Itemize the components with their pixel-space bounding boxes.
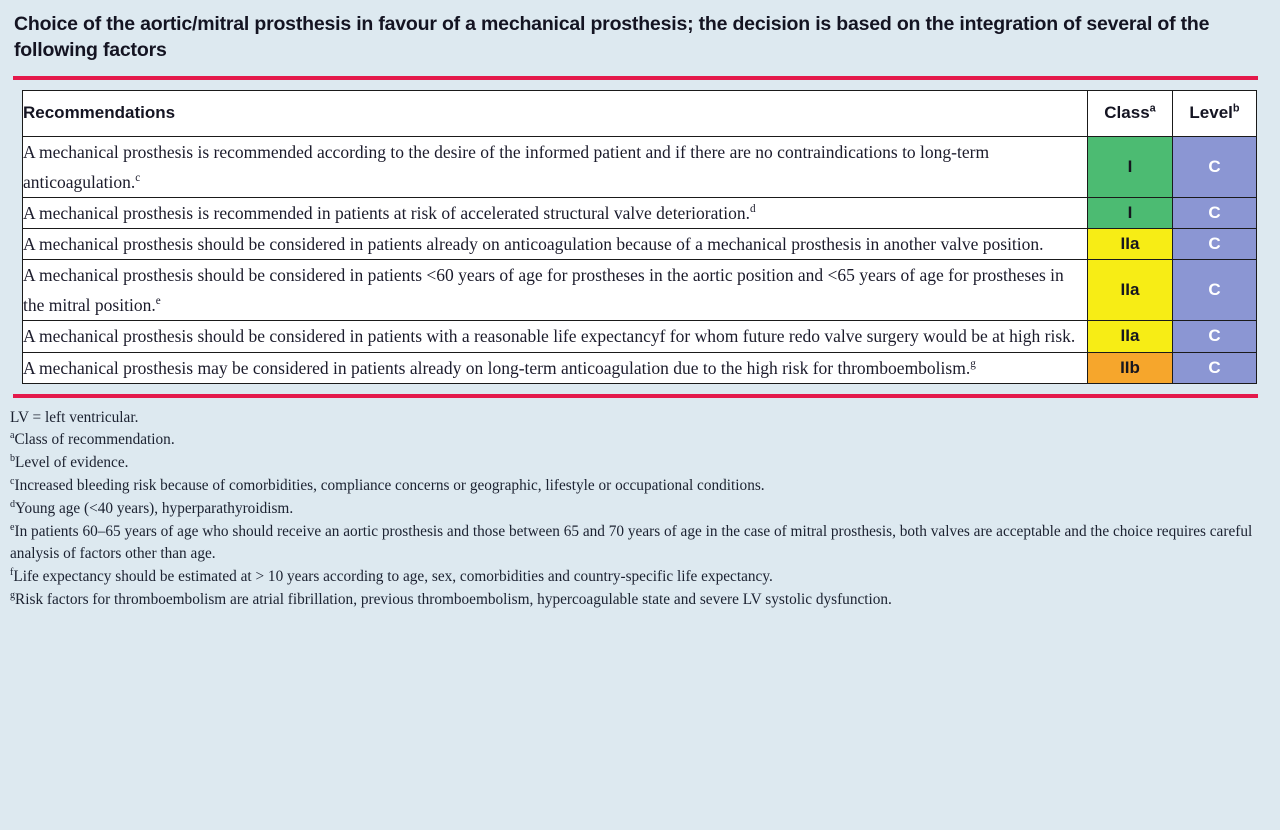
class-cell: IIa bbox=[1088, 260, 1173, 321]
header-recommendations: Recommendations bbox=[23, 90, 1088, 136]
footnote-text: Level of evidence. bbox=[15, 454, 128, 471]
footnote: eIn patients 60–65 years of age who shou… bbox=[10, 521, 1264, 566]
header-level-superscript: b bbox=[1233, 103, 1240, 115]
recommendation-footnote-marker: d bbox=[750, 203, 756, 215]
top-red-rule bbox=[13, 76, 1258, 80]
class-cell: I bbox=[1088, 198, 1173, 229]
guideline-table-page: Choice of the aortic/mitral prosthesis i… bbox=[0, 0, 1280, 830]
header-recommendations-label: Recommendations bbox=[23, 103, 175, 122]
recommendation-cell: A mechanical prosthesis should be consid… bbox=[23, 260, 1088, 321]
title-block: Choice of the aortic/mitral prosthesis i… bbox=[0, 0, 1280, 64]
recommendation-cell: A mechanical prosthesis should be consid… bbox=[23, 229, 1088, 260]
footnote: fLife expectancy should be estimated at … bbox=[10, 566, 1264, 588]
level-cell: C bbox=[1173, 260, 1257, 321]
header-class-superscript: a bbox=[1150, 103, 1156, 115]
footnote: LV = left ventricular. bbox=[10, 407, 1264, 429]
recommendation-footnote-marker: c bbox=[135, 172, 140, 184]
recommendation-text: A mechanical prosthesis may be considere… bbox=[23, 358, 970, 378]
recommendation-text: A mechanical prosthesis is recommended i… bbox=[23, 203, 750, 223]
footnote-text: Class of recommendation. bbox=[14, 431, 174, 448]
bottom-red-rule bbox=[13, 394, 1258, 398]
footnote-text: Increased bleeding risk because of comor… bbox=[14, 477, 764, 494]
footnote-text: Life expectancy should be estimated at >… bbox=[13, 568, 772, 585]
recommendation-cell: A mechanical prosthesis may be considere… bbox=[23, 352, 1088, 383]
recommendation-footnote-marker: e bbox=[156, 295, 161, 307]
footnote-text: In patients 60–65 years of age who shoul… bbox=[10, 523, 1252, 562]
page-title: Choice of the aortic/mitral prosthesis i… bbox=[14, 12, 1258, 64]
table-row: A mechanical prosthesis may be considere… bbox=[23, 352, 1257, 383]
level-cell: C bbox=[1173, 136, 1257, 197]
level-cell: C bbox=[1173, 352, 1257, 383]
recommendation-text: A mechanical prosthesis should be consid… bbox=[23, 265, 1064, 315]
recommendation-text: A mechanical prosthesis should be consid… bbox=[23, 234, 1044, 254]
class-cell: I bbox=[1088, 136, 1173, 197]
header-level-label: Level bbox=[1189, 103, 1232, 122]
footnotes-block: LV = left ventricular.aClass of recommen… bbox=[10, 407, 1264, 611]
recommendations-table: Recommendations Classa Levelb A mechanic… bbox=[22, 90, 1257, 384]
header-level: Levelb bbox=[1173, 90, 1257, 136]
recommendation-text: A mechanical prosthesis should be consid… bbox=[23, 326, 1075, 346]
table-row: A mechanical prosthesis is recommended i… bbox=[23, 198, 1257, 229]
level-cell: C bbox=[1173, 321, 1257, 352]
header-class: Classa bbox=[1088, 90, 1173, 136]
table-row: A mechanical prosthesis should be consid… bbox=[23, 260, 1257, 321]
recommendation-cell: A mechanical prosthesis is recommended a… bbox=[23, 136, 1088, 197]
table-header: Recommendations Classa Levelb bbox=[23, 90, 1257, 136]
footnote: cIncreased bleeding risk because of como… bbox=[10, 475, 1264, 497]
table-row: A mechanical prosthesis should be consid… bbox=[23, 321, 1257, 352]
recommendation-cell: A mechanical prosthesis should be consid… bbox=[23, 321, 1088, 352]
class-cell: IIa bbox=[1088, 229, 1173, 260]
header-class-label: Class bbox=[1104, 103, 1149, 122]
header-row: Recommendations Classa Levelb bbox=[23, 90, 1257, 136]
class-cell: IIb bbox=[1088, 352, 1173, 383]
recommendation-footnote-marker: g bbox=[970, 358, 976, 370]
footnote: gRisk factors for thromboembolism are at… bbox=[10, 589, 1264, 611]
table-body: A mechanical prosthesis is recommended a… bbox=[23, 136, 1257, 383]
recommendation-text: A mechanical prosthesis is recommended a… bbox=[23, 142, 989, 192]
level-cell: C bbox=[1173, 229, 1257, 260]
footnote: dYoung age (<40 years), hyperparathyroid… bbox=[10, 498, 1264, 520]
table-row: A mechanical prosthesis should be consid… bbox=[23, 229, 1257, 260]
level-cell: C bbox=[1173, 198, 1257, 229]
class-cell: IIa bbox=[1088, 321, 1173, 352]
recommendation-cell: A mechanical prosthesis is recommended i… bbox=[23, 198, 1088, 229]
footnote-text: LV = left ventricular. bbox=[10, 409, 138, 426]
footnote-text: Young age (<40 years), hyperparathyroidi… bbox=[15, 500, 293, 517]
footnote: bLevel of evidence. bbox=[10, 452, 1264, 474]
footnote-text: Risk factors for thromboembolism are atr… bbox=[15, 591, 892, 608]
table-row: A mechanical prosthesis is recommended a… bbox=[23, 136, 1257, 197]
footnote: aClass of recommendation. bbox=[10, 429, 1264, 451]
recommendations-table-wrapper: Recommendations Classa Levelb A mechanic… bbox=[22, 90, 1256, 384]
